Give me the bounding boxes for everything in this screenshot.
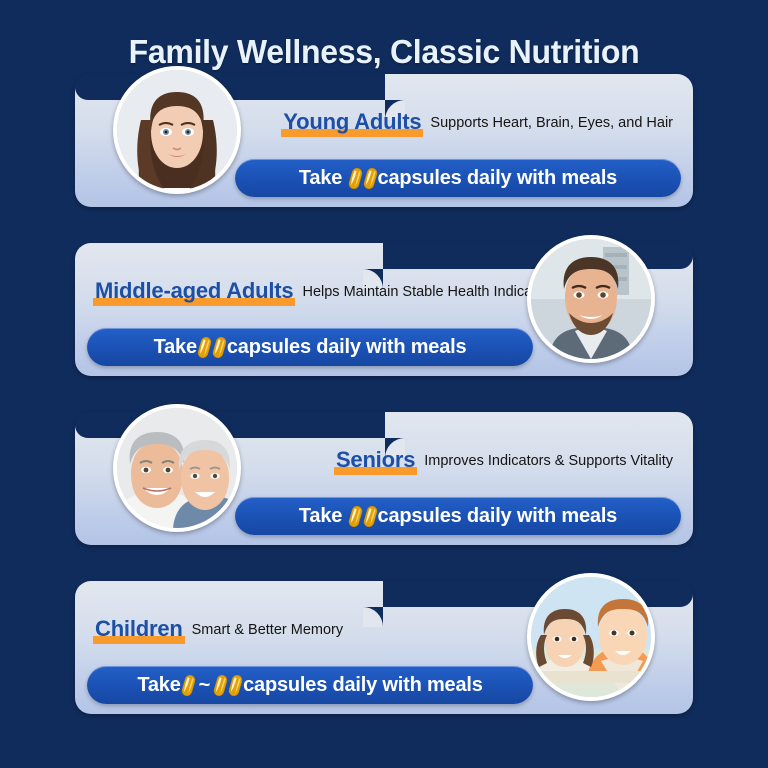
benefit-text: Supports Heart, Brain, Eyes, and Hair	[430, 113, 673, 136]
group-title: Young Adults	[283, 109, 421, 136]
photo-young-adult-woman	[113, 66, 241, 194]
card-content: Young Adults Supports Heart, Brain, Eyes…	[253, 102, 679, 207]
card-list: Young Adults Supports Heart, Brain, Eyes…	[0, 74, 768, 714]
benefit-text: Helps Maintain Stable Health Indicators	[302, 282, 556, 305]
card-children[interactable]: Children Smart & Better Memory Take ~	[75, 581, 693, 714]
photo-two-children	[527, 573, 655, 701]
group-title: Children	[95, 616, 183, 643]
card-seniors[interactable]: Seniors Improves Indicators & Supports V…	[75, 412, 693, 545]
photo-middle-aged-man	[527, 235, 655, 363]
infographic-page: { "page": { "title": "Family Wellness, C…	[0, 0, 768, 768]
card-header-row: Young Adults Supports Heart, Brain, Eyes…	[253, 102, 679, 136]
card-young-adults[interactable]: Young Adults Supports Heart, Brain, Eyes…	[75, 74, 693, 207]
card-content: Middle-aged Adults Helps Maintain Stable…	[89, 271, 515, 376]
group-title-text: Young Adults	[283, 109, 421, 134]
group-title: Seniors	[336, 447, 415, 474]
card-content: Seniors Improves Indicators & Supports V…	[253, 440, 679, 545]
photo-senior-couple	[113, 404, 241, 532]
group-title-text: Seniors	[336, 447, 415, 472]
card-header-row: Seniors Improves Indicators & Supports V…	[253, 440, 679, 474]
group-title-text: Middle-aged Adults	[95, 278, 293, 303]
card-header-row: Middle-aged Adults Helps Maintain Stable…	[89, 271, 515, 305]
page-title: Family Wellness, Classic Nutrition	[12, 0, 757, 74]
benefit-text: Smart & Better Memory	[192, 620, 343, 643]
card-header-row: Children Smart & Better Memory	[89, 609, 515, 643]
benefit-text: Improves Indicators & Supports Vitality	[424, 451, 673, 474]
group-title: Middle-aged Adults	[95, 278, 293, 305]
group-title-text: Children	[95, 616, 183, 641]
card-middle-aged-adults[interactable]: Middle-aged Adults Helps Maintain Stable…	[75, 243, 693, 376]
card-content: Children Smart & Better Memory	[89, 609, 515, 714]
